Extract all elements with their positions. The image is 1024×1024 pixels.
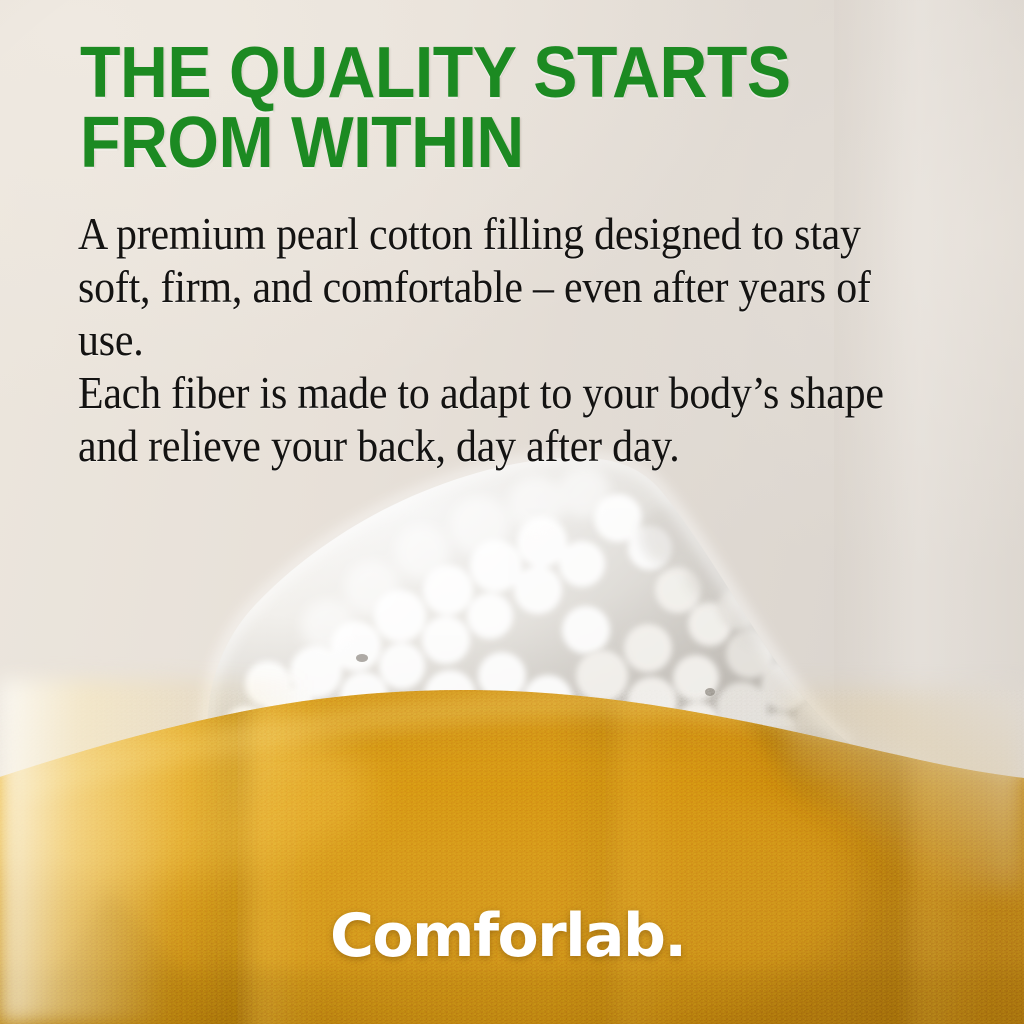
headline: THE QUALITY STARTS FROM WITHIN [80,38,890,178]
body-paragraph: A premium pearl cotton filling designed … [78,208,915,473]
marketing-image-canvas: THE QUALITY STARTS FROM WITHIN A premium… [0,0,1024,1024]
brand-logo-comforlab: Comforlab. [330,906,686,966]
